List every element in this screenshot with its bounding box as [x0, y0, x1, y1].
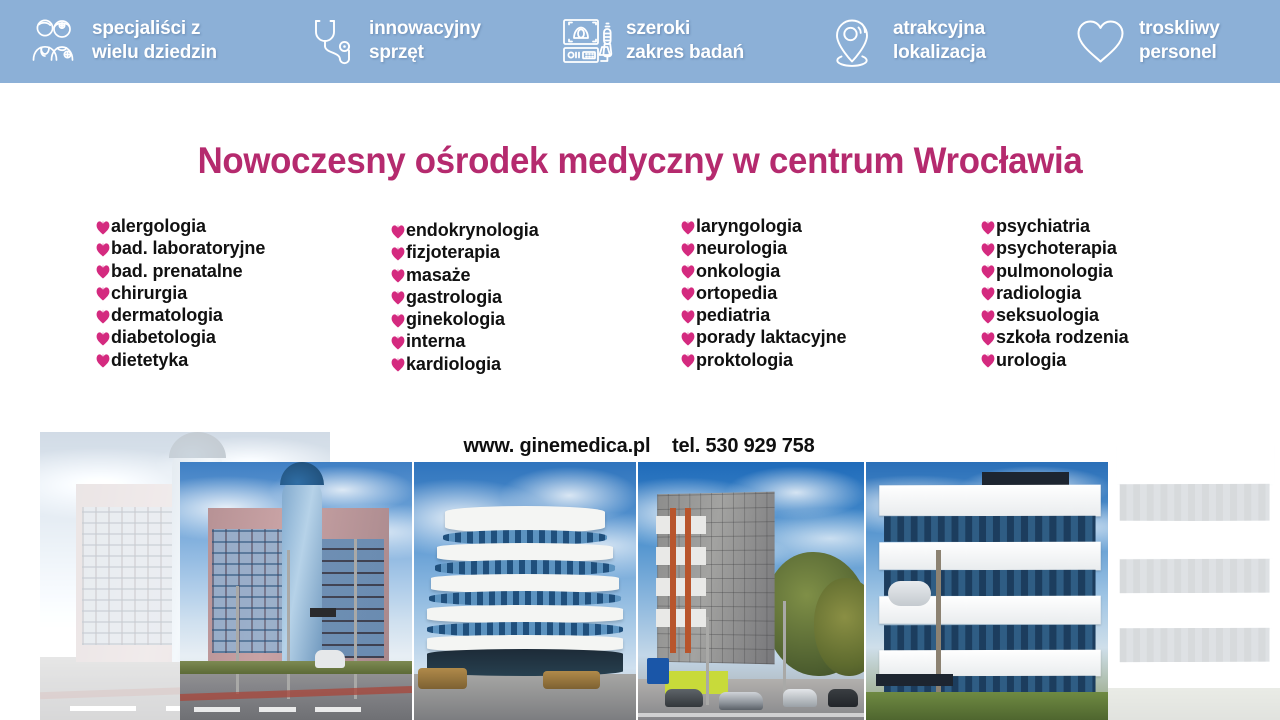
specialty-label: szkoła rodzenia: [996, 327, 1129, 348]
header-feature-location[interactable]: atrakcyjna lokalizacja: [827, 11, 986, 71]
list-item[interactable]: pulmonologia: [979, 261, 1129, 283]
specialties-column-4: psychiatria psychoterapia pulmonologia r…: [979, 216, 1129, 372]
list-item[interactable]: interna: [389, 331, 539, 353]
two-doctors-icon: [26, 13, 82, 69]
tulip-bullet-icon: [389, 243, 406, 263]
tulip-bullet-icon: [679, 306, 696, 326]
list-item[interactable]: diabetologia: [94, 327, 265, 349]
page-title: Nowoczesny ośrodek medyczny w centrum Wr…: [38, 139, 1241, 183]
list-item[interactable]: ortopedia: [679, 283, 846, 305]
specialty-label: ginekologia: [406, 309, 505, 330]
building-photo-strip: [0, 430, 1280, 720]
list-item[interactable]: radiologia: [979, 283, 1129, 305]
website-text[interactable]: www. ginemedica.pl: [463, 435, 650, 457]
header-feature-label: troskliwy personel: [1139, 17, 1220, 65]
contact-band: www. ginemedica.pl tel. 530 929 758: [330, 430, 948, 462]
poster-root: specjaliści z wielu dziedzin innowacyjny…: [0, 0, 1280, 720]
specialties-column-3: laryngologia neurologia onkologia ortope…: [679, 216, 846, 372]
specialties-column-2: endokrynologia fizjoterapia masaże gastr…: [389, 220, 539, 376]
list-item[interactable]: proktologia: [679, 350, 846, 372]
tulip-bullet-icon: [679, 262, 696, 282]
location-pin-icon: [827, 13, 883, 69]
tulip-bullet-icon: [94, 351, 111, 371]
specialty-label: diabetologia: [111, 327, 216, 348]
list-item[interactable]: dermatologia: [94, 305, 265, 327]
list-item[interactable]: endokrynologia: [389, 220, 539, 242]
list-item[interactable]: psychoterapia: [979, 238, 1129, 260]
feature-header-band: specjaliści z wielu dziedzin innowacyjny…: [0, 0, 1280, 83]
list-item[interactable]: pediatria: [679, 305, 846, 327]
list-item[interactable]: alergologia: [94, 216, 265, 238]
specialties-list: alergologia bad. laboratoryjne bad. pren…: [0, 216, 1280, 386]
specialty-label: pediatria: [696, 305, 770, 326]
specialty-label: ortopedia: [696, 283, 777, 304]
list-item[interactable]: urologia: [979, 350, 1129, 372]
tulip-bullet-icon: [389, 332, 406, 352]
specialty-label: dermatologia: [111, 305, 223, 326]
specialty-label: seksuologia: [996, 305, 1099, 326]
tulip-bullet-icon: [389, 310, 406, 330]
list-item[interactable]: bad. prenatalne: [94, 261, 265, 283]
list-item[interactable]: bad. laboratoryjne: [94, 238, 265, 260]
tulip-bullet-icon: [679, 351, 696, 371]
list-item[interactable]: porady laktacyjne: [679, 327, 846, 349]
header-feature-label: specjaliści z wielu dziedzin: [92, 17, 217, 65]
header-feature-specialists[interactable]: specjaliści z wielu dziedzin: [26, 11, 217, 71]
tulip-bullet-icon: [94, 217, 111, 237]
list-item[interactable]: kardiologia: [389, 354, 539, 376]
specialty-label: kardiologia: [406, 354, 501, 375]
tulip-bullet-icon: [979, 284, 996, 304]
specialty-label: neurologia: [696, 238, 787, 259]
tulip-bullet-icon: [679, 328, 696, 348]
tulip-bullet-icon: [389, 266, 406, 286]
tulip-bullet-icon: [979, 217, 996, 237]
specialty-label: porady laktacyjne: [696, 327, 846, 348]
specialties-column-1: alergologia bad. laboratoryjne bad. pren…: [94, 216, 265, 372]
specialty-label: endokrynologia: [406, 220, 539, 241]
tulip-bullet-icon: [979, 239, 996, 259]
specialty-label: fizjoterapia: [406, 242, 500, 263]
specialty-label: psychiatria: [996, 216, 1090, 237]
list-item[interactable]: dietetyka: [94, 350, 265, 372]
tulip-bullet-icon: [94, 284, 111, 304]
tulip-bullet-icon: [94, 306, 111, 326]
specialty-label: bad. prenatalne: [111, 261, 243, 282]
tulip-bullet-icon: [979, 351, 996, 371]
header-feature-label: szeroki zakres badań: [626, 17, 744, 65]
list-item[interactable]: chirurgia: [94, 283, 265, 305]
specialty-label: chirurgia: [111, 283, 187, 304]
photo-panel-grey-stone-building: [638, 462, 864, 720]
tulip-bullet-icon: [679, 239, 696, 259]
specialty-label: gastrologia: [406, 287, 502, 308]
header-feature-equipment[interactable]: innowacyjny sprzęt: [303, 11, 481, 71]
tulip-bullet-icon: [389, 221, 406, 241]
ultrasound-machine-icon: [560, 13, 616, 69]
tulip-bullet-icon: [979, 328, 996, 348]
tulip-bullet-icon: [94, 328, 111, 348]
photo-panel-white-clinic-faded: [1108, 432, 1280, 720]
photo-panel-round-white-building: [414, 462, 636, 720]
tulip-bullet-icon: [94, 239, 111, 259]
heart-icon: [1073, 13, 1129, 69]
list-item[interactable]: szkoła rodzenia: [979, 327, 1129, 349]
header-feature-staff[interactable]: troskliwy personel: [1073, 11, 1220, 71]
tulip-bullet-icon: [979, 306, 996, 326]
photo-panel-white-clinic: [866, 462, 1108, 720]
list-item[interactable]: psychiatria: [979, 216, 1129, 238]
tulip-bullet-icon: [979, 262, 996, 282]
specialty-label: psychoterapia: [996, 238, 1117, 259]
contact-line: www. ginemedica.pl tel. 530 929 758: [463, 435, 814, 458]
list-item[interactable]: neurologia: [679, 238, 846, 260]
specialty-label: laryngologia: [696, 216, 802, 237]
specialty-label: proktologia: [696, 350, 793, 371]
tulip-bullet-icon: [679, 217, 696, 237]
specialty-label: onkologia: [696, 261, 780, 282]
tulip-bullet-icon: [94, 262, 111, 282]
specialty-label: alergologia: [111, 216, 206, 237]
specialty-label: dietetyka: [111, 350, 188, 371]
list-item[interactable]: gastrologia: [389, 287, 539, 309]
list-item[interactable]: laryngologia: [679, 216, 846, 238]
list-item[interactable]: seksuologia: [979, 305, 1129, 327]
tulip-bullet-icon: [389, 355, 406, 375]
specialty-label: interna: [406, 331, 465, 352]
header-feature-label: atrakcyjna lokalizacja: [893, 17, 986, 65]
specialty-label: pulmonologia: [996, 261, 1113, 282]
list-item[interactable]: onkologia: [679, 261, 846, 283]
phone-text[interactable]: tel. 530 929 758: [672, 435, 814, 457]
tulip-bullet-icon: [389, 288, 406, 308]
list-item[interactable]: masaże: [389, 265, 539, 287]
specialty-label: urologia: [996, 350, 1066, 371]
specialty-label: bad. laboratoryjne: [111, 238, 265, 259]
header-feature-scope[interactable]: szeroki zakres badań: [560, 11, 744, 71]
stethoscope-icon: [303, 13, 359, 69]
photo-panel-pink-office-building: [180, 462, 412, 720]
specialty-label: radiologia: [996, 283, 1081, 304]
tulip-bullet-icon: [679, 284, 696, 304]
list-item[interactable]: fizjoterapia: [389, 242, 539, 264]
specialty-label: masaże: [406, 265, 470, 286]
header-feature-label: innowacyjny sprzęt: [369, 17, 481, 65]
list-item[interactable]: ginekologia: [389, 309, 539, 331]
